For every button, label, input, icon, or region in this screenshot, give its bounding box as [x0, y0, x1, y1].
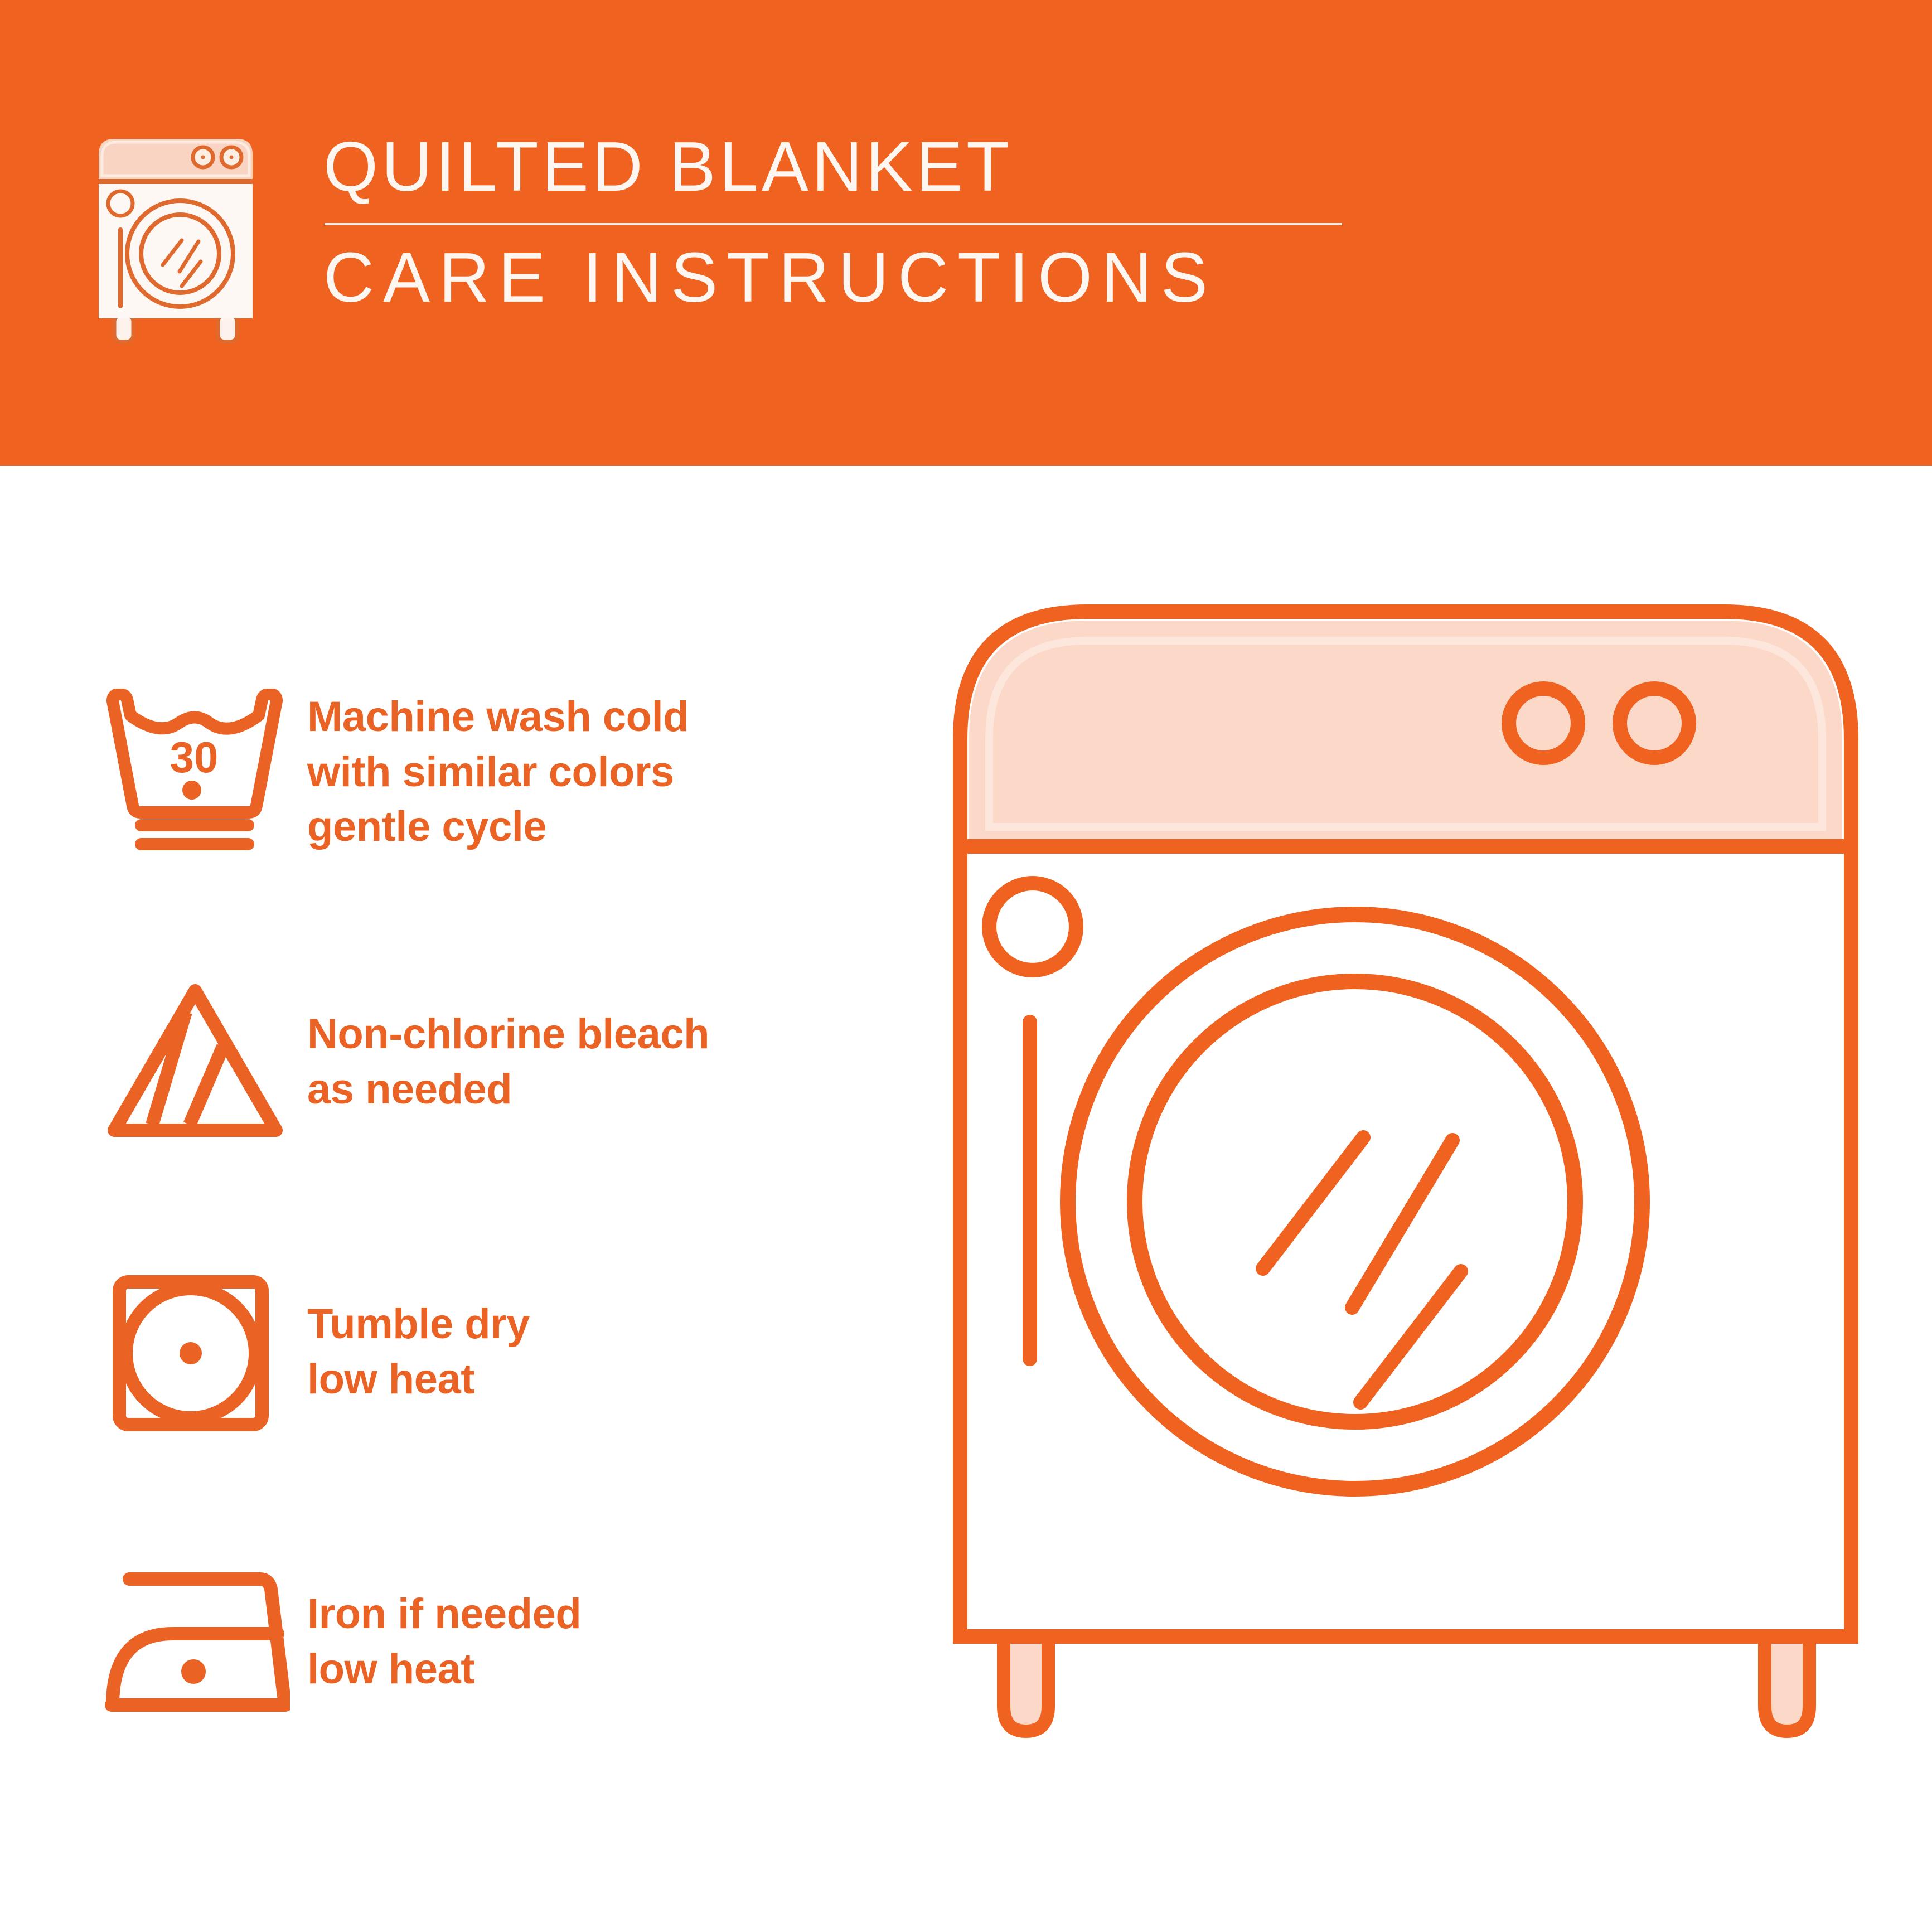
care-line: Iron if needed: [307, 1587, 581, 1642]
care-line: as needed: [307, 1062, 709, 1117]
title-divider: [325, 223, 1342, 225]
care-line: gentle cycle: [307, 800, 689, 855]
care-line: Machine wash cold: [307, 690, 689, 745]
care-row-bleach: Non-chlorine bleach as needed: [92, 965, 928, 1160]
care-line: Tumble dry: [307, 1297, 530, 1352]
machine-slider-bar: [1023, 1015, 1037, 1366]
page-header: QUILTED BLANKET CARE INSTRUCTIONS: [0, 0, 1932, 466]
machine-knob-2: [1620, 689, 1689, 758]
wash-temperature-value: 30: [170, 733, 219, 782]
page-body: 30 Machine wash cold with similar colors…: [0, 466, 1932, 1932]
washing-machine-icon: [84, 131, 268, 348]
header-content: QUILTED BLANKET CARE INSTRUCTIONS: [84, 125, 1338, 348]
care-text-machine-wash: Machine wash cold with similar colors ge…: [298, 690, 689, 855]
care-row-iron: Iron if needed low heat: [92, 1544, 928, 1740]
wash-tub-30-gentle-icon: 30: [92, 675, 298, 870]
triangle-non-chlorine-bleach-icon: [92, 965, 298, 1160]
machine-knob-1: [1509, 689, 1578, 758]
care-text-tumble-dry: Tumble dry low heat: [298, 1297, 530, 1407]
care-row-machine-wash: 30 Machine wash cold with similar colors…: [92, 675, 928, 870]
machine-control-panel: [969, 621, 1842, 839]
care-line: low heat: [307, 1352, 530, 1407]
care-text-iron: Iron if needed low heat: [298, 1587, 581, 1697]
header-titles: QUILTED BLANKET CARE INSTRUCTIONS: [323, 125, 1342, 313]
panel-divider: [960, 839, 1851, 854]
care-line: Non-chlorine bleach: [307, 1007, 709, 1062]
care-text-bleach: Non-chlorine bleach as needed: [298, 1007, 709, 1117]
care-line: with similar colors: [307, 745, 689, 800]
page-subtitle: CARE INSTRUCTIONS: [323, 242, 1342, 314]
washing-machine-illustration: [948, 599, 1862, 1759]
care-row-tumble-dry: Tumble dry low heat: [92, 1255, 928, 1450]
care-instructions-list: 30 Machine wash cold with similar colors…: [92, 675, 928, 1740]
care-line: low heat: [307, 1642, 581, 1697]
tumble-dry-low-heat-icon: [92, 1255, 298, 1450]
page-title: QUILTED BLANKET: [323, 131, 1342, 203]
iron-low-heat-icon: [92, 1544, 298, 1740]
